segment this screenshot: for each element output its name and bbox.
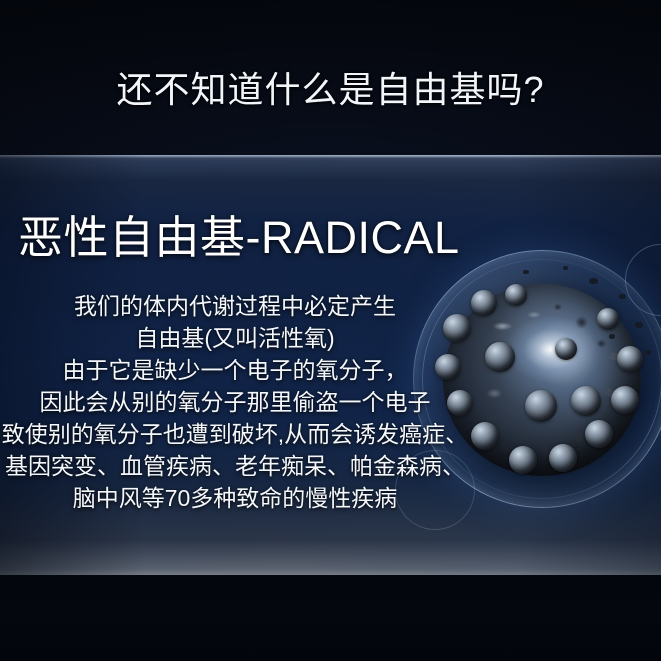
spike-knob	[505, 284, 527, 306]
spike-knob	[485, 342, 515, 372]
paragraph-line: 脑中风等70多种致命的慢性疾病	[0, 482, 470, 514]
spike-knob	[471, 290, 497, 316]
paragraph-line: 我们的体内代谢过程中必定产生	[0, 290, 470, 322]
debris-speck	[645, 350, 651, 355]
panel-heading: 恶性自由基-RADICAL	[18, 212, 460, 264]
poster-headline: 还不知道什么是自由基吗?	[0, 70, 661, 110]
panel-paragraph: 我们的体内代谢过程中必定产生 自由基(又叫活性氧) 由于它是缺少一个电子的氧分子…	[0, 290, 470, 514]
paragraph-line: 致使别的氧分子也遭到破坏,从而会诱发癌症、	[0, 418, 470, 450]
core-highlight	[504, 315, 596, 385]
bottom-band	[0, 575, 661, 661]
spike-knob	[509, 446, 537, 474]
spike-knob	[617, 346, 643, 372]
poster-stage: 还不知道什么是自由基吗?	[0, 0, 661, 661]
debris-speck	[589, 278, 598, 284]
spike-knob	[555, 338, 577, 360]
paragraph-line: 由于它是缺少一个电子的氧分子，	[0, 354, 470, 386]
spike-knob	[597, 308, 619, 330]
spike-knob	[611, 386, 639, 414]
top-band: 还不知道什么是自由基吗?	[0, 0, 661, 155]
spike-knob	[471, 422, 499, 450]
debris-speck	[635, 322, 643, 328]
spike-knob	[549, 444, 577, 472]
debris-speck	[619, 294, 626, 299]
debris-speck	[523, 270, 529, 274]
paragraph-line: 自由基(又叫活性氧)	[0, 322, 470, 354]
spike-knob	[571, 386, 601, 416]
spike-knob	[525, 390, 557, 422]
paragraph-line: 基因突变、血管疾病、老年痴呆、帕金森病、	[0, 450, 470, 482]
paragraph-line: 因此会从别的氧分子那里偷盗一个电子	[0, 386, 470, 418]
debris-speck	[609, 334, 615, 339]
spike-knob	[585, 420, 613, 448]
panel-top-glow	[0, 155, 661, 158]
debris-speck	[563, 266, 568, 270]
